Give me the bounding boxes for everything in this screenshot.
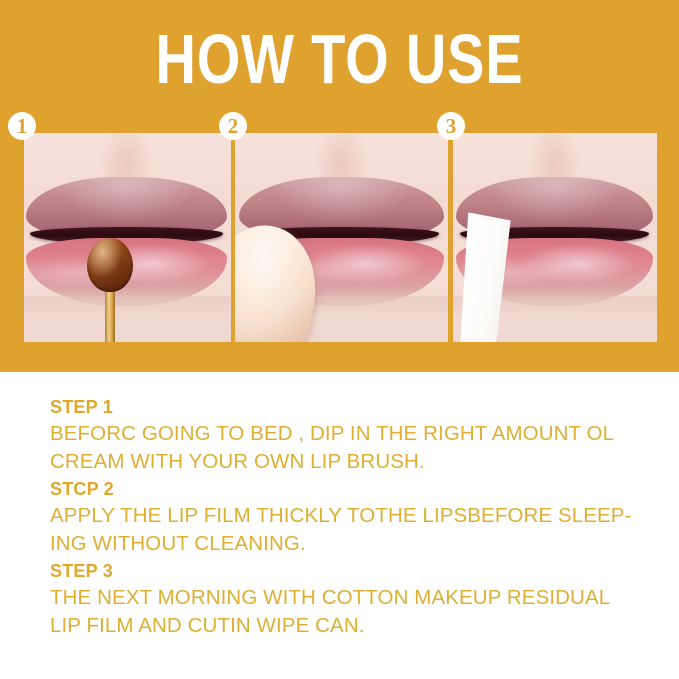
step-1-heading: STEP 1: [50, 394, 650, 420]
step-2-heading: STCP 2: [50, 476, 650, 502]
step-3-body: THE NEXT MORNING WITH COTTON MAKEUP RESI…: [50, 584, 650, 640]
step-3-heading: STEP 3: [50, 558, 650, 584]
steps-list: STEP 1 BEFORC GOING TO BED , DIP IN THE …: [50, 394, 650, 640]
step-1-body: BEFORC GOING TO BED , DIP IN THE RIGHT A…: [50, 420, 650, 476]
step-photo-2: [235, 133, 448, 342]
page-title: HOW TO USE: [68, 24, 611, 94]
step-badge-2: 2: [219, 112, 247, 140]
chin-shadow: [22, 296, 231, 342]
badge-stem-1: [20, 133, 24, 342]
how-to-use-infographic: HOW TO USE: [0, 0, 679, 679]
applicator-tip-icon: [87, 238, 133, 292]
badge-stem-2: [231, 133, 235, 342]
step-item-3: STEP 3 THE NEXT MORNING WITH COTTON MAKE…: [50, 558, 650, 640]
step-2-body: APPLY THE LIP FILM THICKLY TOTHE LIPSBEF…: [50, 502, 650, 558]
step-badge-1: 1: [8, 112, 36, 140]
step-badge-3: 3: [437, 112, 465, 140]
step-item-2: STCP 2 APPLY THE LIP FILM THICKLY TOTHE …: [50, 476, 650, 558]
applicator-handle-icon: [105, 288, 115, 342]
step-photo-1: [22, 133, 231, 342]
step-photo-3: [452, 133, 657, 342]
step-item-1: STEP 1 BEFORC GOING TO BED , DIP IN THE …: [50, 394, 650, 476]
badge-stem-3: [449, 133, 453, 342]
photo-strip: [22, 133, 657, 342]
